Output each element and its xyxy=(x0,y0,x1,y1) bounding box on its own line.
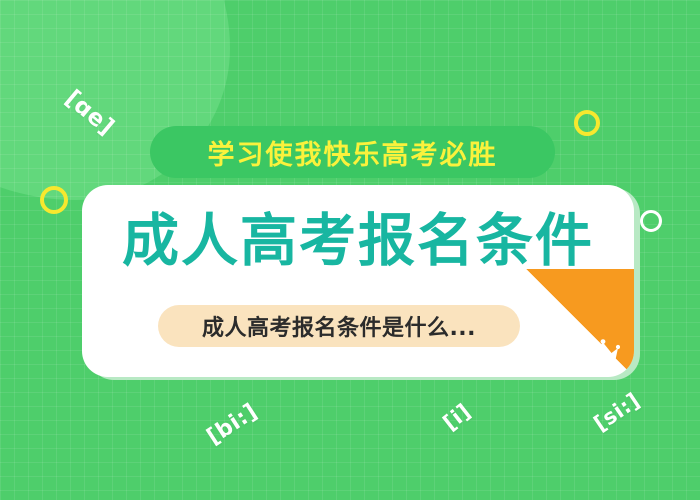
page-title: 成人高考报名条件 xyxy=(82,213,634,270)
decor-ring-yellow-top-right xyxy=(574,110,600,136)
decor-ring-yellow-left xyxy=(40,186,68,214)
decor-phonetic-bi: [bi:] xyxy=(203,399,262,450)
subtitle-text: 成人高考报名条件是什么... xyxy=(202,310,476,342)
slogan-banner: 学习使我快乐高考必胜 xyxy=(150,126,555,178)
main-card: 成人高考报名条件 成人高考报名条件是什么... xyxy=(82,185,634,377)
subtitle-pill: 成人高考报名条件是什么... xyxy=(158,305,520,347)
crown-icon xyxy=(586,339,620,365)
decor-phonetic-i: [i] xyxy=(439,399,476,435)
poster-canvas: [ɑe] [bi:] [i] [si:] 学习使我快乐高考必胜 成人高考报名条件… xyxy=(0,0,700,500)
corner-ribbon xyxy=(526,269,634,377)
decor-phonetic-si: [si:] xyxy=(590,388,645,436)
slogan-banner-text: 学习使我快乐高考必胜 xyxy=(208,133,498,172)
decor-ring-white-mid-right xyxy=(640,210,662,232)
